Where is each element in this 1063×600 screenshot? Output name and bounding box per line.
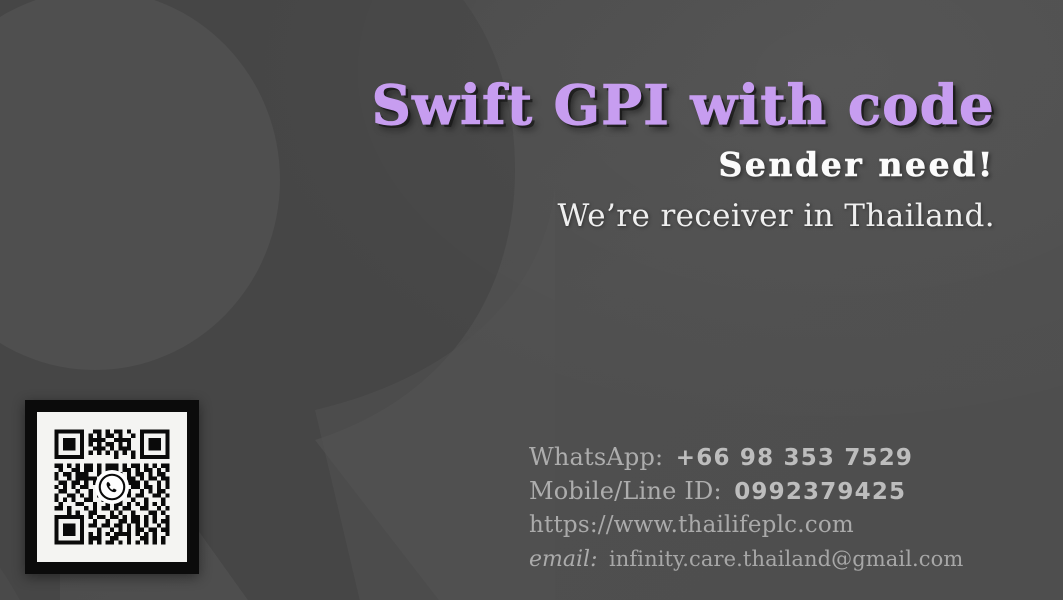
contact-row-whatsapp: WhatsApp: +66 98 353 7529 [529,440,999,474]
contact-row-mobile: Mobile/Line ID: 0992379425 [529,474,999,508]
contact-block: WhatsApp: +66 98 353 7529 Mobile/Line ID… [529,440,999,576]
email-label: email: [529,547,597,572]
page-tagline: We’re receiver in Thailand. [0,201,995,232]
qr-code-image[interactable] [37,412,187,562]
contact-row-website: https://www.thailifeplc.com [529,508,999,542]
mobile-line-number[interactable]: 0992379425 [734,479,906,505]
email-address[interactable]: infinity.care.thailand@gmail.com [609,547,964,571]
qr-code-card[interactable] [25,400,199,574]
contact-row-email: email: infinity.care.thailand@gmail.com [529,542,999,576]
website-link[interactable]: https://www.thailifeplc.com [529,512,854,538]
whatsapp-number[interactable]: +66 98 353 7529 [676,445,913,471]
page-subtitle: Sender need! [0,148,995,181]
page-title: Swift GPI with code [0,78,995,132]
headline-block: Swift GPI with code Sender need! We’re r… [0,0,1063,232]
whatsapp-label: WhatsApp: [529,443,663,471]
banner-canvas: Swift GPI with code Sender need! We’re r… [0,0,1063,600]
mobile-line-label: Mobile/Line ID: [529,477,722,505]
whatsapp-icon [95,470,129,504]
